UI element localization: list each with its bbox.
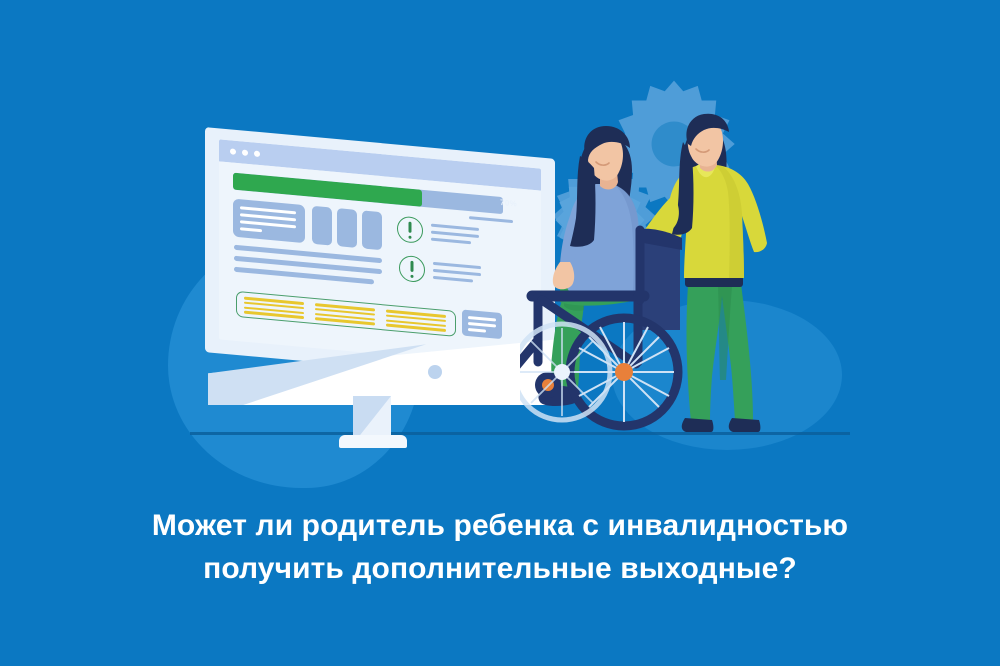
titlebar-dot-2-icon xyxy=(242,149,248,156)
titlebar-dot-1-icon xyxy=(230,148,236,155)
people-illustration xyxy=(520,100,820,445)
warning-2-line-3 xyxy=(433,276,473,283)
monitor-screen: 70% xyxy=(219,139,541,368)
progress-subline xyxy=(469,216,513,223)
mini-card xyxy=(462,309,502,339)
warning-1-line-2 xyxy=(431,231,479,239)
monitor-power-button xyxy=(428,365,442,379)
caption-line-2: получить дополнительные выходные? xyxy=(60,548,940,591)
warning-2-line-1 xyxy=(433,262,481,270)
monitor-stand-base xyxy=(339,435,407,448)
warning-icon-2 xyxy=(399,255,425,283)
poster-canvas: 70% xyxy=(0,0,1000,666)
screen-content: 70% xyxy=(219,161,541,368)
warning-icon-1 xyxy=(397,216,423,244)
content-bar-2 xyxy=(337,208,357,248)
warning-1-line-3 xyxy=(431,238,471,245)
monitor-illustration: 70% xyxy=(205,143,565,443)
wheelchair-back-frame xyxy=(638,229,682,330)
highlighted-rows-box xyxy=(236,291,456,337)
content-bar-1 xyxy=(312,206,332,246)
warning-2-line-2 xyxy=(433,269,481,277)
highlight-group-2 xyxy=(315,303,375,328)
highlight-group-1 xyxy=(244,297,304,322)
caption-line-1: Может ли родитель ребенка с инвалидность… xyxy=(60,505,940,548)
content-bar-3 xyxy=(362,210,382,250)
caption-text: Может ли родитель ребенка с инвалидность… xyxy=(0,505,1000,590)
progress-percent-label: 70% xyxy=(500,198,517,209)
titlebar-dot-3-icon xyxy=(254,151,260,158)
highlight-group-3 xyxy=(386,310,446,335)
content-card xyxy=(233,199,305,244)
warning-1-line-1 xyxy=(431,224,479,232)
